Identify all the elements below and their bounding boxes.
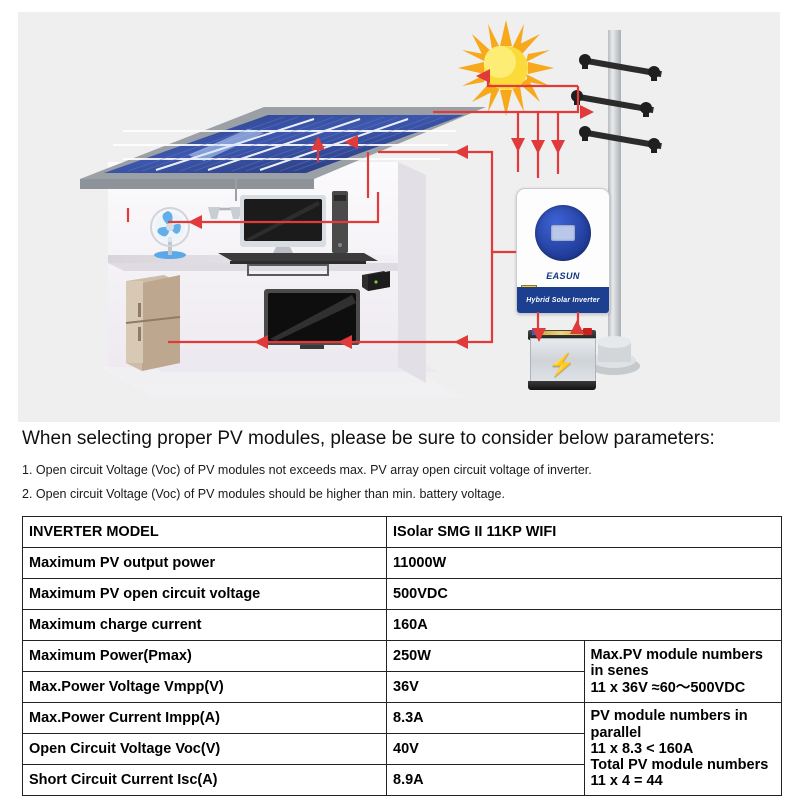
cell-inverter-model-value: ISolar SMG II 11KP WIFI <box>387 517 782 548</box>
note-item-1: 1. Open circuit Voltage (Voc) of PV modu… <box>22 463 782 477</box>
cell-value: 8.9A <box>387 765 585 796</box>
table-row: Maximum PV output power 11000W <box>23 548 782 579</box>
note-item-2: 2. Open circuit Voltage (Voc) of PV modu… <box>22 487 782 501</box>
cell-label: Max.Power Voltage Vmpp(V) <box>23 672 387 703</box>
cell-label: Short Circuit Current Isc(A) <box>23 765 387 796</box>
specification-table: INVERTER MODEL ISolar SMG II 11KP WIFI M… <box>22 516 782 796</box>
table-row-header: INVERTER MODEL ISolar SMG II 11KP WIFI <box>23 517 782 548</box>
note-parallel-line4: 11 x 4 = 44 <box>591 773 776 789</box>
cell-value: 250W <box>387 641 585 672</box>
cell-note-series: Max.PV module numbers in senes 11 x 36V … <box>584 641 782 703</box>
cell-value: 40V <box>387 734 585 765</box>
cell-label: Maximum charge current <box>23 610 387 641</box>
table-row: Maximum charge current 160A <box>23 610 782 641</box>
table-row: Maximum PV open circuit voltage 500VDC <box>23 579 782 610</box>
cell-value: 160A <box>387 610 782 641</box>
cell-value: 8.3A <box>387 703 585 734</box>
cell-label: Open Circuit Voltage Voc(V) <box>23 734 387 765</box>
cell-label: Maximum Power(Pmax) <box>23 641 387 672</box>
illustration-panel: EASUN Hybrid Solar Inverter ⚡ <box>18 12 780 422</box>
table-row: Max.Power Current Impp(A) 8.3A PV module… <box>23 703 782 734</box>
note-series-line2: 11 x 36V ≈60～500VDC <box>591 680 776 696</box>
cell-label: Maximum PV output power <box>23 548 387 579</box>
cell-value: 36V <box>387 672 585 703</box>
lead-paragraph: When selecting proper PV modules, please… <box>22 428 782 450</box>
cell-label: Maximum PV open circuit voltage <box>23 579 387 610</box>
cell-label: Max.Power Current Impp(A) <box>23 703 387 734</box>
cell-value: 11000W <box>387 548 782 579</box>
cell-note-parallel: PV module numbers in parallel 11 x 8.3 <… <box>584 703 782 796</box>
note-series-line1: Max.PV module numbers in senes <box>591 647 776 679</box>
power-flow-wires <box>18 12 780 422</box>
cell-value: 500VDC <box>387 579 782 610</box>
note-parallel-line2: 11 x 8.3 < 160A <box>591 741 776 757</box>
note-parallel-line3: Total PV module numbers <box>591 757 776 773</box>
table-row: Maximum Power(Pmax) 250W Max.PV module n… <box>23 641 782 672</box>
note-parallel-line1: PV module numbers in parallel <box>591 708 776 740</box>
cell-inverter-model-label: INVERTER MODEL <box>23 517 387 548</box>
